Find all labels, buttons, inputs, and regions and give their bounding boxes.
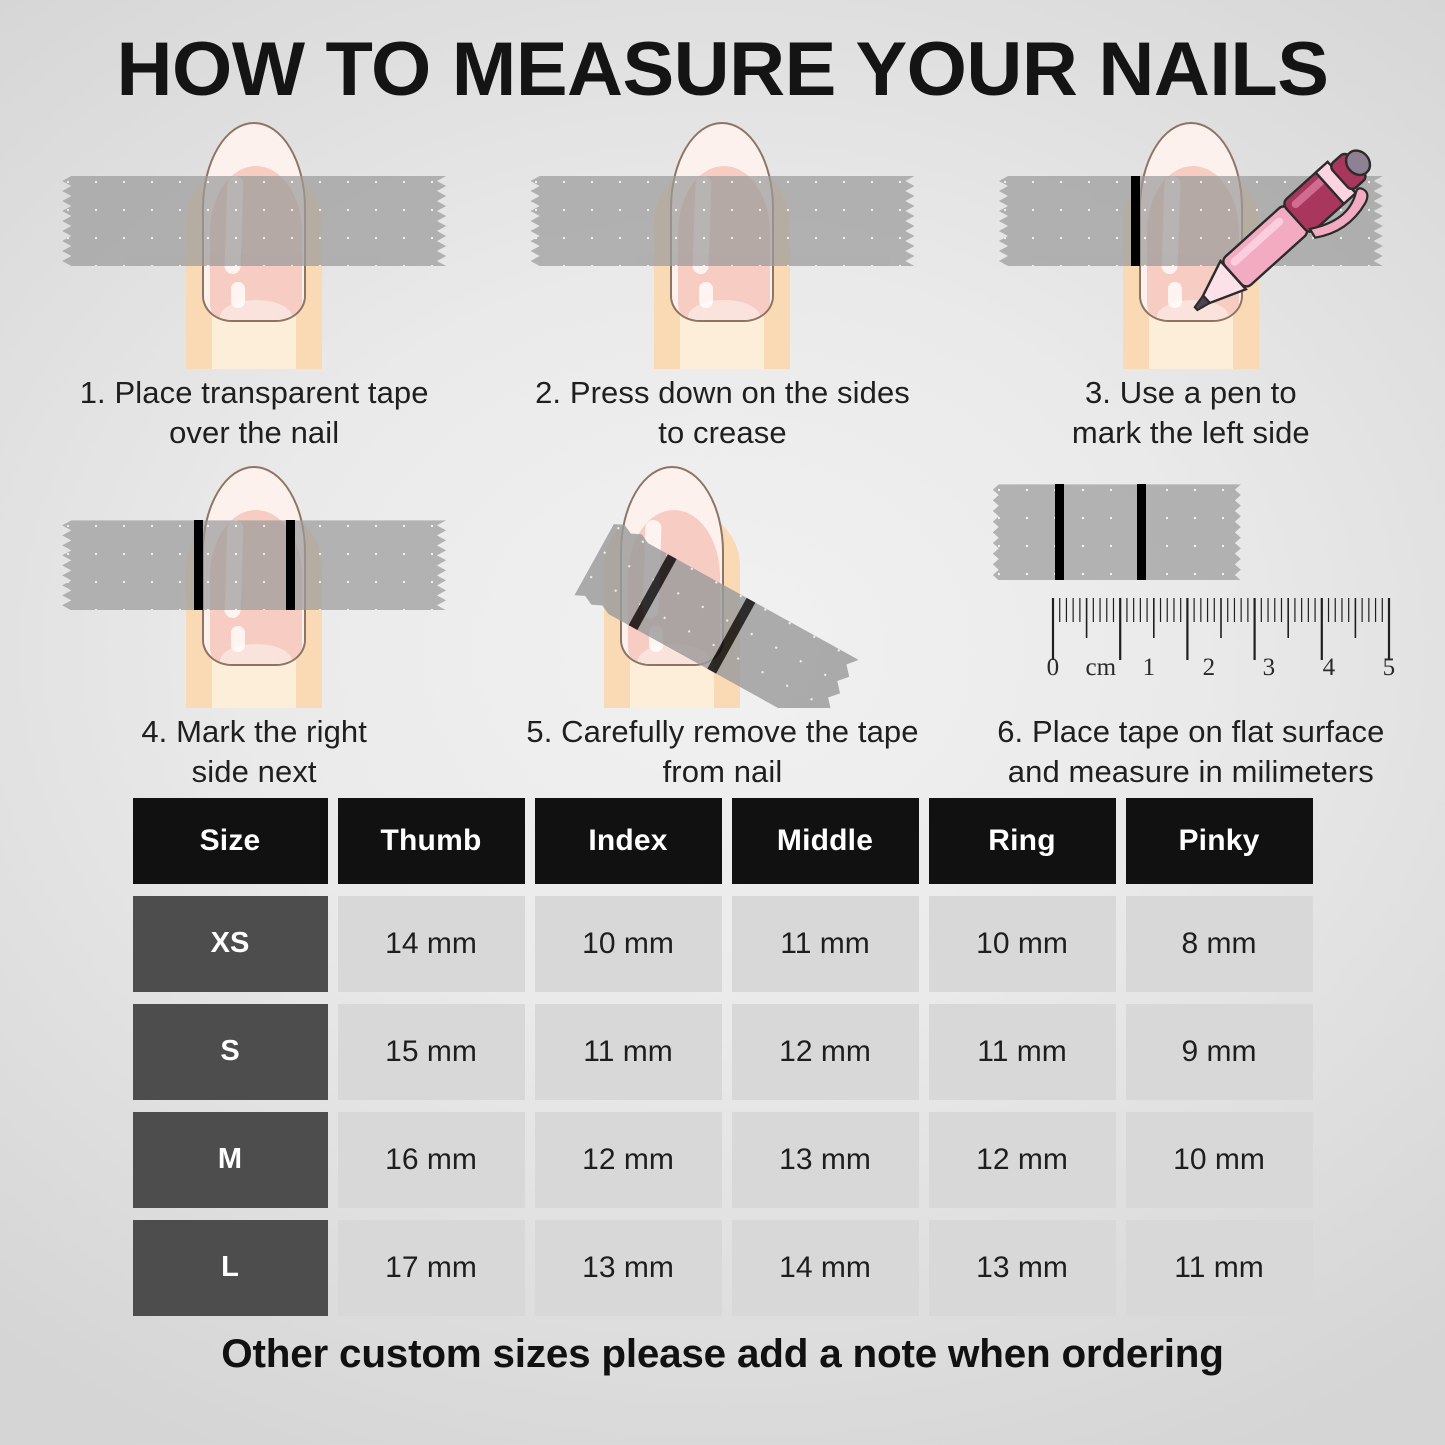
- table-cell: 11 mm: [535, 1004, 722, 1100]
- step-2-figure: [512, 114, 932, 369]
- step-3-figure: [981, 114, 1401, 369]
- pen-icon: [1165, 118, 1395, 348]
- table-cell: 11 mm: [1126, 1220, 1313, 1316]
- step-6: 0 cm 1 2 3 4 5 6. Place tape on flat sur…: [957, 458, 1425, 791]
- table-cell: 11 mm: [929, 1004, 1116, 1100]
- nail-gloss-small-icon: [231, 626, 245, 652]
- table-cell: 13 mm: [929, 1220, 1116, 1316]
- left-mark: [1131, 176, 1140, 266]
- table-row-header-m: M: [133, 1112, 328, 1208]
- table-cell: 10 mm: [1126, 1112, 1313, 1208]
- ruler-tick-4: 4: [1323, 654, 1336, 682]
- step-3: 3. Use a pen tomark the left side: [957, 114, 1425, 452]
- nail-gloss-small-icon: [699, 282, 713, 308]
- table-header-size: Size: [133, 798, 328, 884]
- steps-row-1: 1. Place transparent tapeover the nail 2…: [0, 114, 1445, 452]
- transparent-tape: [62, 520, 446, 610]
- size-chart-table: SizeThumbIndexMiddleRingPinkyXS14 mm10 m…: [133, 798, 1313, 1316]
- table-cell: 13 mm: [535, 1220, 722, 1316]
- table-header-middle: Middle: [732, 798, 919, 884]
- left-mark: [1055, 484, 1064, 580]
- step-2: 2. Press down on the sidesto crease: [488, 114, 956, 452]
- ruler-tick-1: 1: [1143, 654, 1156, 682]
- table-cell: 14 mm: [732, 1220, 919, 1316]
- table-row-header-s: S: [133, 1004, 328, 1100]
- table-cell: 8 mm: [1126, 896, 1313, 992]
- table-cell: 10 mm: [535, 896, 722, 992]
- step-3-caption: 3. Use a pen tomark the left side: [1072, 373, 1310, 452]
- step-5-caption: 5. Carefully remove the tapefrom nail: [526, 712, 918, 791]
- table-header-ring: Ring: [929, 798, 1116, 884]
- table-row-header-l: L: [133, 1220, 328, 1316]
- page-title: HOW TO MEASURE YOUR NAILS: [0, 0, 1445, 108]
- table-header-index: Index: [535, 798, 722, 884]
- ruler-tick-5: 5: [1383, 654, 1396, 682]
- step-4: 4. Mark the rightside next: [20, 458, 488, 791]
- table-cell: 12 mm: [732, 1004, 919, 1100]
- step-4-figure: [44, 458, 464, 708]
- table-cell: 12 mm: [929, 1112, 1116, 1208]
- table-cell: 17 mm: [338, 1220, 525, 1316]
- step-1-caption: 1. Place transparent tapeover the nail: [80, 373, 429, 452]
- table-cell: 11 mm: [732, 896, 919, 992]
- footnote: Other custom sizes please add a note whe…: [0, 1332, 1445, 1377]
- right-mark: [286, 520, 295, 610]
- ruler-tick-0: 0: [1047, 654, 1060, 682]
- table-cell: 16 mm: [338, 1112, 525, 1208]
- table-header-pinky: Pinky: [1126, 798, 1313, 884]
- step-6-caption: 6. Place tape on flat surfaceand measure…: [997, 712, 1384, 791]
- right-mark: [1137, 484, 1146, 580]
- ruler-tick-2: 2: [1203, 654, 1216, 682]
- step-6-figure: 0 cm 1 2 3 4 5: [981, 458, 1401, 708]
- transparent-tape: [530, 176, 914, 266]
- step-1: 1. Place transparent tapeover the nail: [20, 114, 488, 452]
- step-1-figure: [44, 114, 464, 369]
- table-cell: 13 mm: [732, 1112, 919, 1208]
- step-4-caption: 4. Mark the rightside next: [141, 712, 367, 791]
- steps-row-2: 4. Mark the rightside next 5. Carefully …: [0, 458, 1445, 791]
- ruler-tick-3: 3: [1263, 654, 1276, 682]
- ruler-labels: 0 cm 1 2 3 4 5: [991, 654, 1391, 688]
- table-cell: 15 mm: [338, 1004, 525, 1100]
- table-row-header-xs: XS: [133, 896, 328, 992]
- nail-gloss-small-icon: [231, 282, 245, 308]
- step-5-figure: [512, 458, 932, 708]
- flat-tape: [993, 484, 1241, 580]
- table-cell: 12 mm: [535, 1112, 722, 1208]
- step-2-caption: 2. Press down on the sidesto crease: [535, 373, 910, 452]
- table-cell: 14 mm: [338, 896, 525, 992]
- table-cell: 10 mm: [929, 896, 1116, 992]
- table-cell: 9 mm: [1126, 1004, 1313, 1100]
- transparent-tape: [62, 176, 446, 266]
- table-header-thumb: Thumb: [338, 798, 525, 884]
- ruler-unit-label: cm: [1086, 654, 1117, 682]
- right-mark: [708, 594, 758, 674]
- left-mark: [194, 520, 203, 610]
- step-5: 5. Carefully remove the tapefrom nail: [488, 458, 956, 791]
- left-mark: [629, 550, 679, 630]
